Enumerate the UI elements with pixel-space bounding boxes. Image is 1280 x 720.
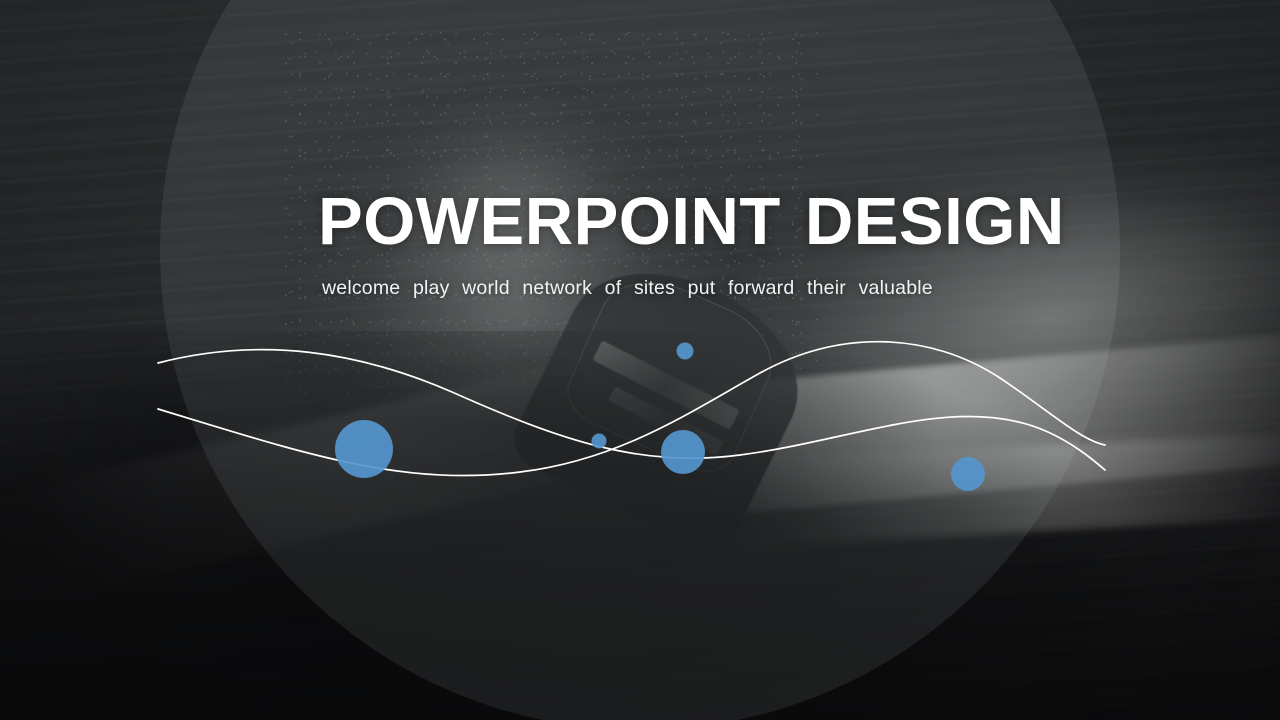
wave-dot-group: [335, 343, 985, 492]
wave-lower: [158, 342, 1105, 476]
title-slide: POWERPOINTDESIGN welcome play world netw…: [0, 0, 1280, 720]
wave-path-group: [158, 342, 1105, 476]
wave-dot-graphic: [0, 0, 1280, 720]
dot-small-mid: [592, 434, 607, 449]
dot-large-left: [335, 420, 393, 478]
dot-medium-right: [951, 457, 985, 491]
wave-upper: [158, 350, 1105, 470]
dot-small-top: [677, 343, 694, 360]
dot-medium-mid: [661, 430, 705, 474]
